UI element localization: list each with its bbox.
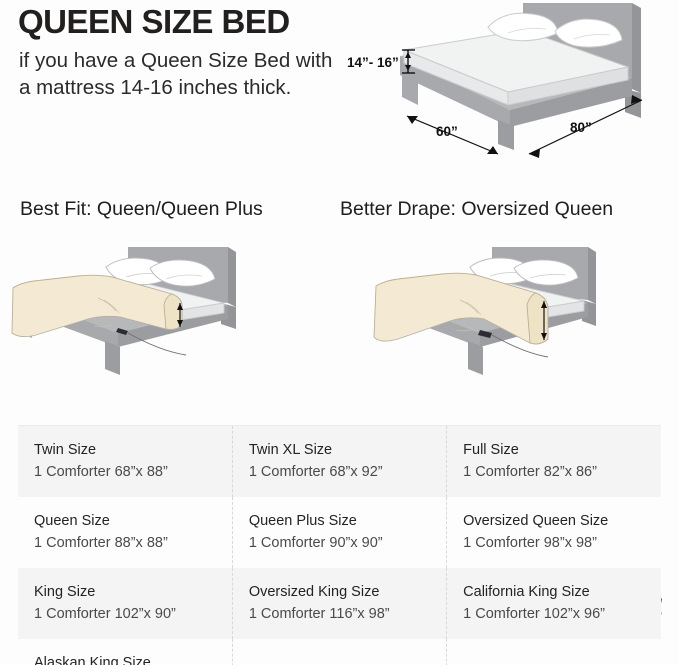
size-name: California King Size — [463, 582, 661, 603]
table-cell: Alaskan King Size 1 Comforter 130”x 120” — [18, 639, 232, 665]
section-heading-best-fit: Best Fit: Queen/Queen Plus — [20, 198, 263, 221]
bedding-size-guide-page: QUEEN SIZE BED if you have a Queen Size … — [0, 0, 679, 665]
table-row: King Size 1 Comforter 102”x 90” Oversize… — [18, 568, 661, 639]
size-detail: 1 Comforter 88”x 88” — [34, 532, 232, 554]
table-cell: Twin Size 1 Comforter 68”x 88” — [18, 426, 232, 497]
size-name — [463, 653, 661, 665]
size-name: Twin Size — [34, 440, 232, 461]
table-cell: Queen Size 1 Comforter 88”x 88” — [18, 497, 232, 568]
section-heading-better-drape: Better Drape: Oversized Queen — [340, 198, 613, 221]
page-title: QUEEN SIZE BED — [18, 2, 358, 42]
table-cell — [447, 639, 661, 665]
table-cell: Twin XL Size 1 Comforter 68”x 92” — [232, 426, 446, 497]
size-name — [249, 653, 446, 665]
size-detail: 1 Comforter 98”x 98” — [463, 532, 661, 554]
size-name: Alaskan King Size — [34, 653, 232, 665]
best-fit-bed-svg — [0, 243, 340, 408]
comforter-size-table: Twin Size 1 Comforter 68”x 88” Twin XL S… — [18, 425, 661, 665]
bed-length-dimension-label: 80” — [570, 120, 592, 135]
better-drape-bed-diagram: Oversized Queen Drap Length: 24” — [340, 243, 679, 408]
size-detail: 1 Comforter 68”x 92” — [249, 461, 446, 483]
size-table-grid: Twin Size 1 Comforter 68”x 88” Twin XL S… — [18, 426, 661, 665]
size-detail: 1 Comforter 68”x 88” — [34, 461, 232, 483]
best-fit-bed-diagram: Queen/Queen Plus Drap Length: 14”/16” — [0, 243, 340, 408]
size-table-body: Twin Size 1 Comforter 68”x 88” Twin XL S… — [18, 426, 661, 665]
table-row: Alaskan King Size 1 Comforter 130”x 120” — [18, 639, 661, 665]
table-cell: Oversized Queen Size 1 Comforter 98”x 98… — [447, 497, 661, 568]
better-drape-bed-svg — [340, 243, 679, 408]
table-cell: California King Size 1 Comforter 102”x 9… — [447, 568, 661, 639]
page-subtitle: if you have a Queen Size Bed with a matt… — [19, 48, 334, 101]
size-name: Oversized King Size — [249, 582, 446, 603]
size-name: Queen Plus Size — [249, 511, 446, 532]
size-name: Twin XL Size — [249, 440, 446, 461]
table-cell: Full Size 1 Comforter 82”x 86” — [447, 426, 661, 497]
size-detail: 1 Comforter 90”x 90” — [249, 532, 446, 554]
table-row: Queen Size 1 Comforter 88”x 88” Queen Pl… — [18, 497, 661, 568]
size-detail: 1 Comforter 82”x 86” — [463, 461, 661, 483]
size-name: Oversized Queen Size — [463, 511, 661, 532]
table-cell: Oversized King Size 1 Comforter 116”x 98… — [232, 568, 446, 639]
table-cell: King Size 1 Comforter 102”x 90” — [18, 568, 232, 639]
size-detail: 1 Comforter 116”x 98” — [249, 603, 446, 625]
bed-width-dimension-label: 60” — [436, 124, 458, 139]
size-name: Full Size — [463, 440, 661, 461]
size-name: Queen Size — [34, 511, 232, 532]
queen-bed-dimensions-diagram: 14”- 16” 60” 80” — [340, 0, 679, 182]
table-cell — [232, 639, 446, 665]
size-detail: 1 Comforter 102”x 90” — [34, 603, 232, 625]
bed-height-dimension-label: 14”- 16” — [347, 55, 399, 70]
size-detail: 1 Comforter 102”x 96” — [463, 603, 661, 625]
size-name: King Size — [34, 582, 232, 603]
table-cell: Queen Plus Size 1 Comforter 90”x 90” — [232, 497, 446, 568]
table-row: Twin Size 1 Comforter 68”x 88” Twin XL S… — [18, 426, 661, 497]
bed-dimensions-svg — [340, 0, 679, 182]
